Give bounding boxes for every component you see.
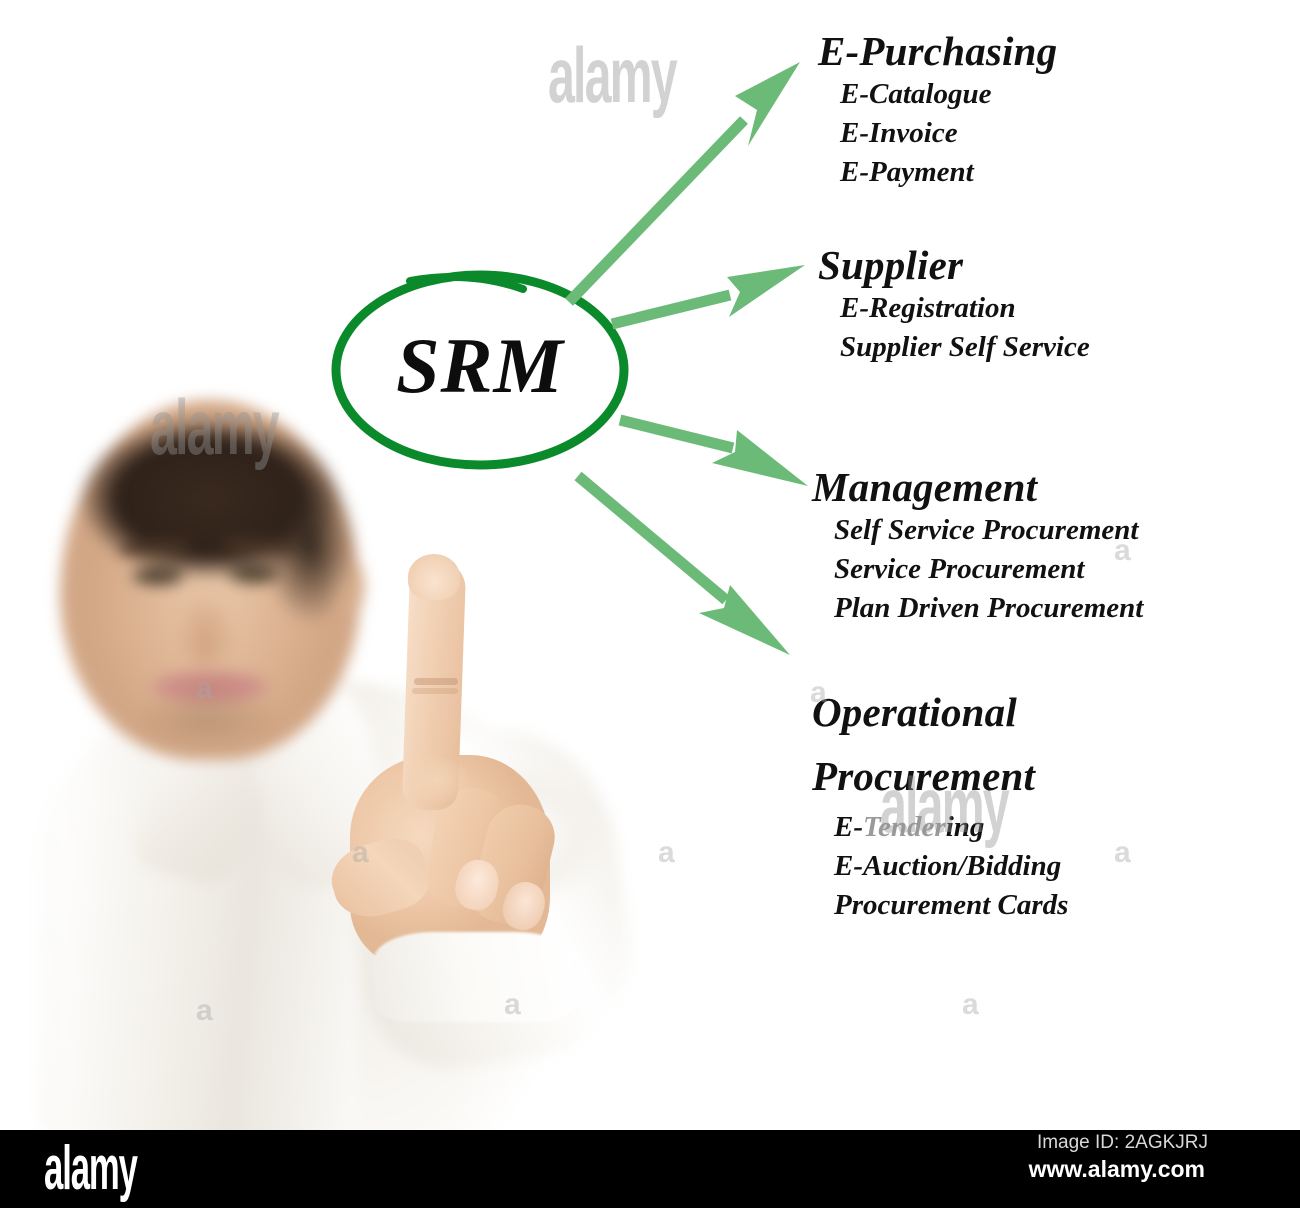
- alamy-url-text: www.alamy.com: [1029, 1156, 1205, 1183]
- list-item: Plan Driven Procurement: [834, 589, 1143, 628]
- list-item: E-Tendering: [834, 808, 1142, 847]
- screenshot-canvas: SRM E-Purchasing E-Catalogue E-Invoice E…: [0, 0, 1300, 1208]
- watermark-letter: a: [962, 988, 979, 1022]
- photo-man-pointing: [0, 380, 640, 1140]
- list-item: E-Invoice: [840, 114, 1057, 153]
- eye-right: [228, 564, 280, 584]
- image-id-text: Image ID: 2AGKJRJ: [1037, 1132, 1208, 1154]
- branch-supplier: Supplier E-Registration Supplier Self Se…: [818, 242, 1090, 367]
- fingertip: [408, 554, 460, 600]
- list-item: Procurement Cards: [834, 886, 1142, 925]
- chin-shadow: [132, 696, 282, 752]
- shirt-cuff: [374, 932, 574, 1022]
- arrow-to-management: [620, 420, 808, 486]
- arrow-to-e-purchasing: [569, 62, 800, 302]
- pointing-hand: [332, 560, 572, 990]
- branch-e-purchasing: E-Purchasing E-Catalogue E-Invoice E-Pay…: [818, 28, 1057, 192]
- list-item: E-Payment: [840, 153, 1057, 192]
- nose: [176, 586, 236, 666]
- branch-management: Management Self Service Procurement Serv…: [812, 464, 1143, 628]
- branch-heading: E-Purchasing: [818, 28, 1057, 75]
- branch-item-list: Self Service Procurement Service Procure…: [812, 511, 1143, 628]
- finger-crease: [412, 688, 458, 694]
- branch-heading: Management: [812, 464, 1143, 511]
- list-item: Supplier Self Service: [840, 328, 1090, 367]
- alamy-footer-bar: alamy Image ID: 2AGKJRJ www.alamy.com: [0, 1130, 1300, 1208]
- branch-item-list: E-Catalogue E-Invoice E-Payment: [818, 75, 1057, 192]
- watermark-word: alamy: [548, 30, 676, 121]
- list-item: E-Catalogue: [840, 75, 1057, 114]
- branch-heading: Operational Procurement: [812, 680, 1142, 808]
- list-item: E-Registration: [840, 289, 1090, 328]
- watermark-letter: a: [658, 836, 675, 870]
- arrow-to-supplier: [612, 265, 805, 324]
- branch-heading: Supplier: [818, 242, 1090, 289]
- srm-center-label: SRM: [335, 325, 625, 407]
- branch-operational-procurement: Operational Procurement E-Tendering E-Au…: [812, 680, 1142, 925]
- eye-left: [132, 566, 184, 586]
- list-item: Self Service Procurement: [834, 511, 1143, 550]
- list-item: Service Procurement: [834, 550, 1143, 589]
- alamy-logo: alamy: [44, 1138, 137, 1200]
- knuckle: [404, 756, 468, 804]
- branch-item-list: E-Tendering E-Auction/Bidding Procuremen…: [812, 808, 1142, 925]
- branch-item-list: E-Registration Supplier Self Service: [818, 289, 1090, 367]
- finger-crease: [414, 678, 458, 685]
- list-item: E-Auction/Bidding: [834, 847, 1142, 886]
